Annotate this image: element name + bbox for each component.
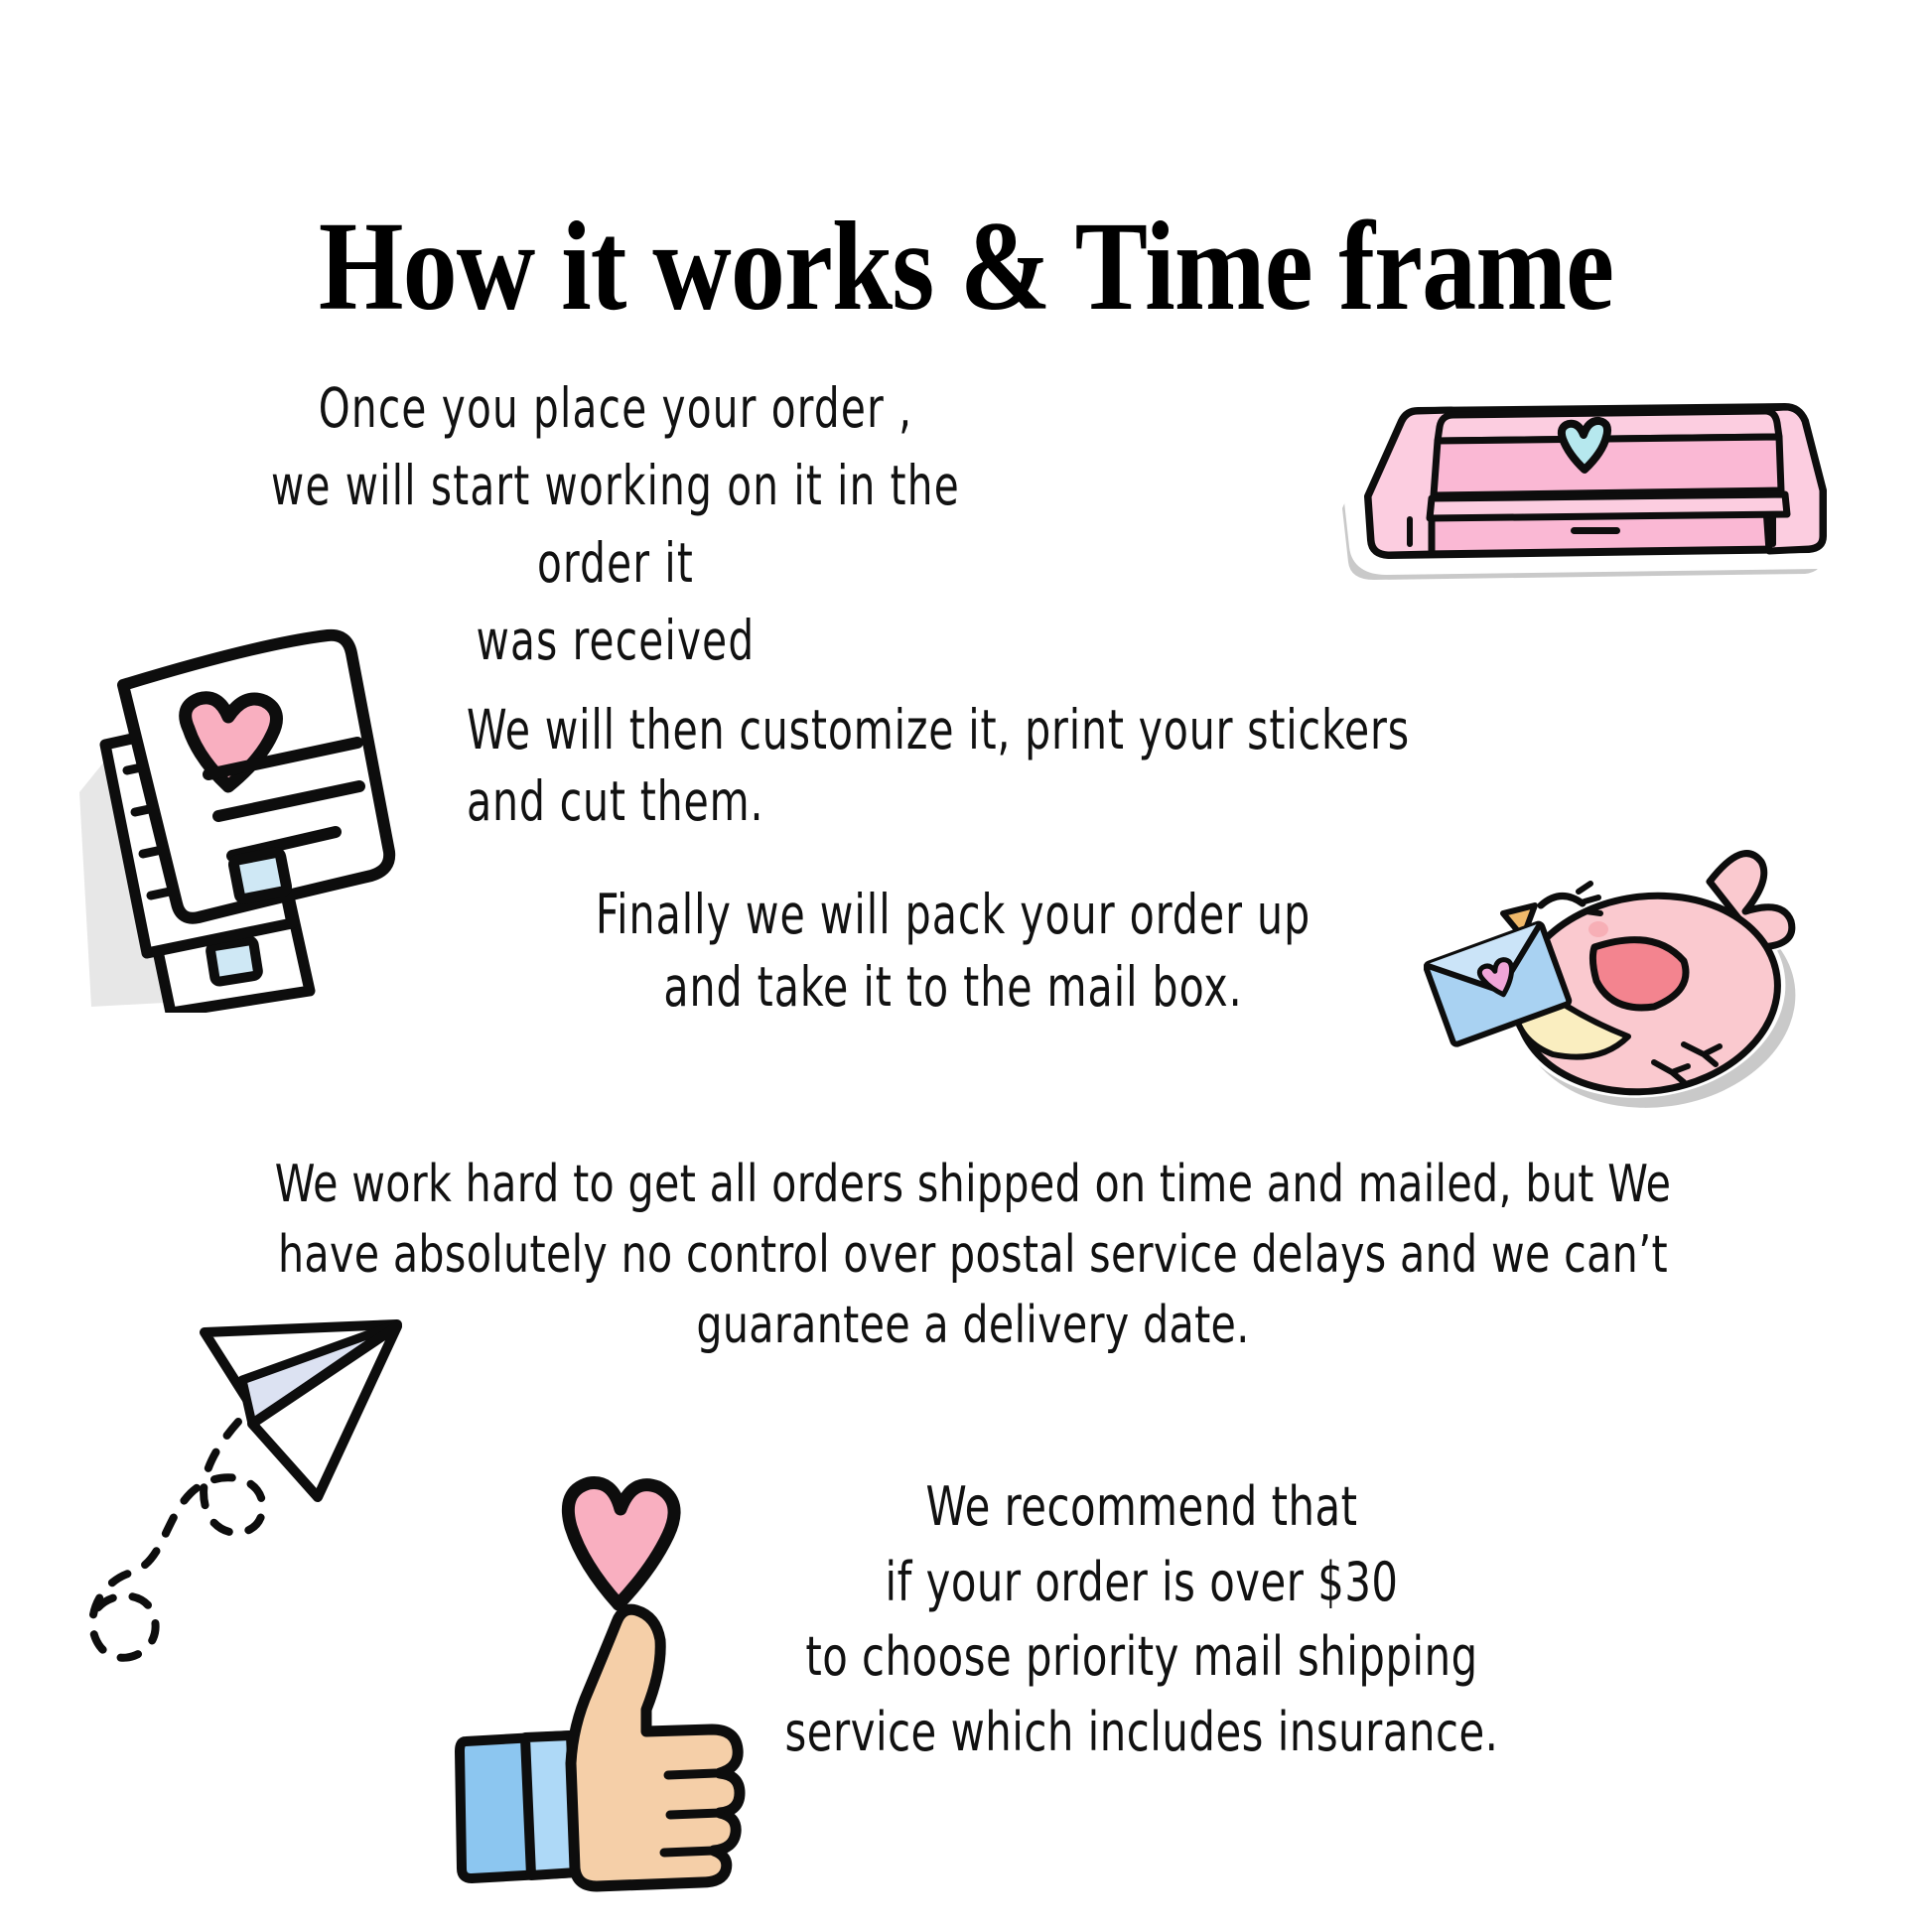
pink-cutting-machine-icon	[1332, 365, 1849, 612]
page-title: How it works & Time frame	[135, 203, 1797, 330]
bird-with-envelope-icon	[1424, 830, 1851, 1116]
paragraph-customize-print: We will then customize it, print your st…	[467, 695, 1439, 837]
paragraph-priority-mail-recommendation: We recommend that if your order is over …	[758, 1469, 1526, 1769]
paragraph-pack-and-mail: Finally we will pack your order up and t…	[516, 879, 1390, 1023]
poster-canvas: How it works & Time frame Once you place…	[0, 0, 1932, 1932]
paper-airplane-icon	[58, 1303, 405, 1690]
sticker-sheets-icon	[62, 596, 459, 1013]
thumbs-up-with-heart-icon	[422, 1465, 789, 1892]
paragraph-shipping-disclaimer: We work hard to get all orders shipped o…	[248, 1150, 1699, 1362]
